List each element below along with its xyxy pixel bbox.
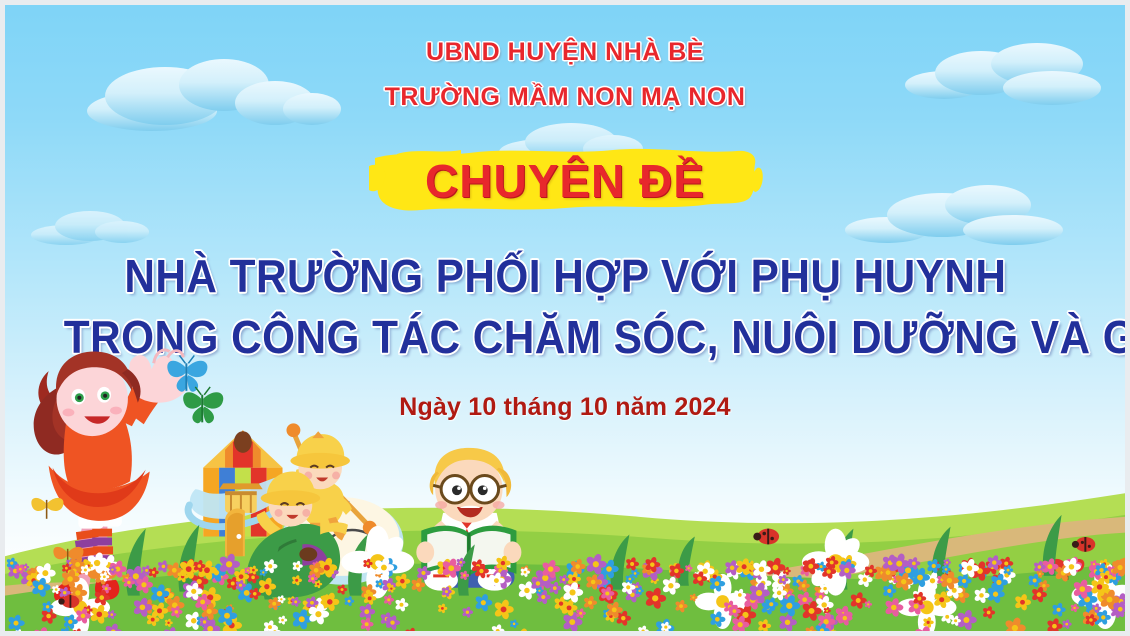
butterfly-orange-icon (31, 498, 63, 519)
poster-banner: UBND HUYỆN NHÀ BÈ TRƯỜNG MẦM NON MẠ NON … (0, 0, 1130, 636)
butterfly-green-icon (183, 387, 223, 423)
illustration-layer (5, 5, 1125, 631)
